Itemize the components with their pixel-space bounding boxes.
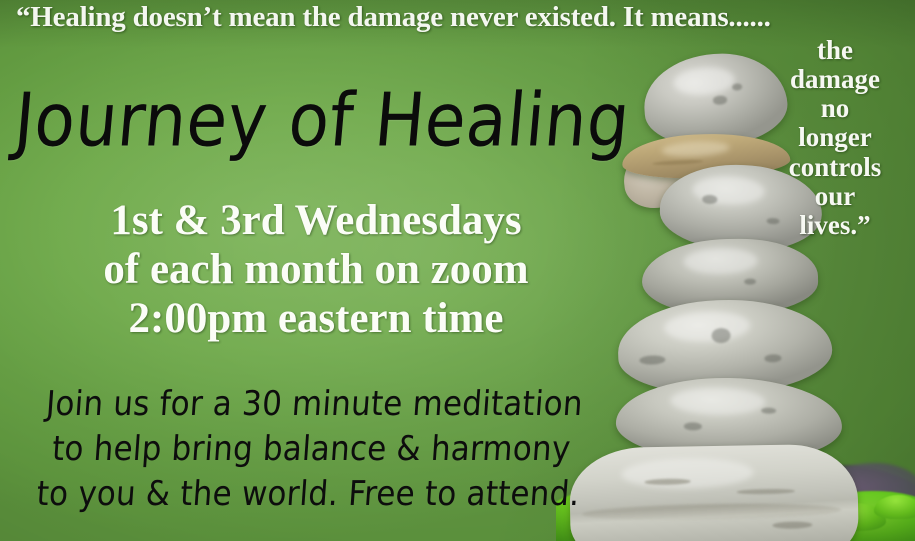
stone-speckle — [640, 355, 666, 365]
schedule-line: 1st & 3rd Wednesdays — [6, 196, 626, 245]
stone-highlight — [670, 387, 765, 416]
invite-line: Join us for a 30 minute meditation — [3, 382, 626, 427]
stone-speckle — [744, 278, 756, 285]
side-quote-line: longer — [765, 123, 905, 152]
side-quote-line: the — [765, 36, 905, 65]
stone-highlight — [673, 66, 735, 98]
top-quote: “Healing doesn’t mean the damage never e… — [16, 2, 906, 32]
stone-speckle — [702, 195, 717, 204]
schedule-block: 1st & 3rd Wednesdays of each month on zo… — [6, 196, 626, 343]
side-quote-line: no — [765, 94, 905, 123]
schedule-line: 2:00pm eastern time — [6, 294, 626, 343]
stone-crack — [652, 159, 703, 166]
stone-crack — [644, 479, 690, 486]
stone-crack — [737, 489, 795, 495]
side-quote-line: our — [765, 182, 905, 211]
invite-line: to you & the world. Free to attend. — [0, 472, 620, 517]
stone-speckle — [732, 83, 742, 90]
stone-highlight — [693, 175, 765, 205]
stone-highlight — [662, 140, 730, 158]
stone-highlight — [684, 248, 758, 275]
side-quote: the damage no longer controls our lives.… — [765, 36, 905, 240]
stone-highlight — [621, 457, 754, 489]
side-quote-line: controls — [765, 153, 905, 182]
stone-speckle — [712, 96, 727, 105]
invite-block: Join us for a 30 minute meditation to he… — [0, 382, 626, 517]
healing-poster: “Healing doesn’t mean the damage never e… — [0, 0, 915, 541]
stone-crack — [772, 521, 812, 529]
stone-speckle — [712, 328, 732, 344]
page-title: Journey of Healing — [12, 84, 633, 158]
stone-speckle — [764, 354, 781, 362]
side-quote-line: damage — [765, 65, 905, 94]
schedule-line: of each month on zoom — [6, 245, 626, 294]
side-quote-line: lives.” — [765, 211, 905, 240]
invite-line: to help bring balance & harmony — [0, 427, 623, 472]
stone-speckle — [684, 423, 702, 431]
stone-highlight — [664, 310, 751, 343]
stone-band — [582, 502, 841, 523]
stone-speckle — [761, 407, 777, 414]
